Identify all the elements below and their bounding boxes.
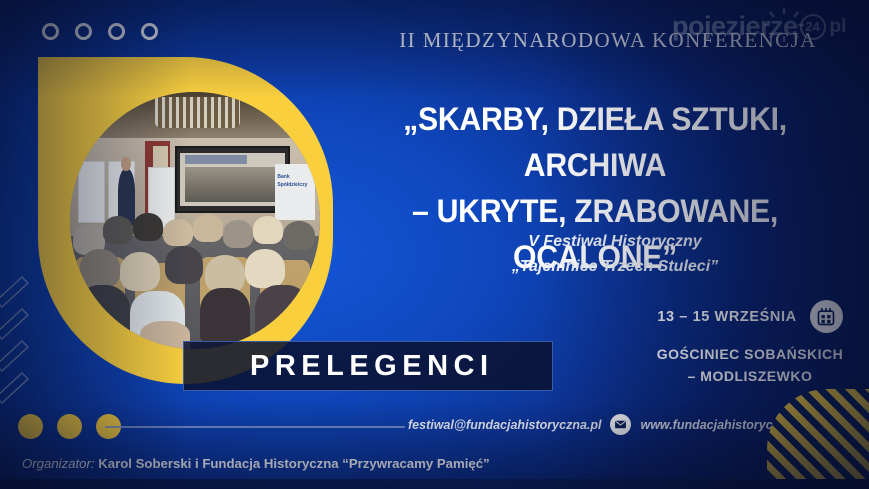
speakers-banner: PRELEGENCI <box>183 341 553 391</box>
event-venue-line-1: GOŚCINIEC SOBAŃSKICH <box>640 343 860 365</box>
ring-dots-group <box>42 23 158 40</box>
bottom-strip <box>0 479 869 489</box>
circular-photo: Bank Spółdzielczy <box>70 92 320 349</box>
calendar-icon <box>810 300 843 333</box>
conference-kicker: II MIĘDZYNARODOWA KONFERENCJA <box>398 28 818 53</box>
photo-chandelier <box>155 97 240 128</box>
ring-dot-4 <box>141 23 158 40</box>
organizer-label: Organizator: <box>22 456 95 471</box>
event-venue-line-2: – MODLISZEWKO <box>640 365 860 387</box>
event-venue: GOŚCINIEC SOBAŃSKICH – MODLISZEWKO <box>640 343 860 388</box>
conference-photo-image: Bank Spółdzielczy <box>70 92 320 349</box>
speakers-banner-label: PRELEGENCI <box>184 350 494 383</box>
photo-frame: Bank Spółdzielczy <box>38 57 333 384</box>
ring-dot-3 <box>108 23 125 40</box>
ring-dot-1 <box>42 23 59 40</box>
organizer-line: Organizator: Karol Soberski i Fundacja H… <box>22 456 490 471</box>
envelope-icon <box>610 414 631 435</box>
page-title-line-1: „SKARBY, DZIEŁA SZTUKI, ARCHIWA <box>349 96 842 188</box>
organizer-value: Karol Soberski i Fundacja Historyczna “P… <box>98 456 489 471</box>
solid-dot-2 <box>57 414 82 439</box>
watermark-tld: pl <box>830 16 847 38</box>
divider-line <box>105 426 405 428</box>
photo-sponsor-banner-text: Bank Spółdzielczy <box>277 174 315 189</box>
festival-line-1: V Festiwal Historyczny <box>450 230 780 255</box>
contact-email[interactable]: festiwal@fundacjahistoryczna.pl <box>408 418 601 432</box>
photo-slide <box>180 153 284 206</box>
striped-quarter-circle-icon <box>767 389 869 489</box>
poster-canvas: pojezierze 24 pl <box>0 0 869 489</box>
event-dates: 13 – 15 WRZEŚNIA <box>657 309 796 325</box>
photo-slide-heading <box>185 155 248 163</box>
ring-dot-2 <box>75 23 92 40</box>
festival-line-2: „Tajemnice Trzech Stuleci” <box>450 255 780 280</box>
solid-dot-1 <box>18 414 43 439</box>
event-details: 13 – 15 WRZEŚNIA GOŚCINIEC SOBAŃSKICH – … <box>640 300 860 388</box>
festival-subtitle: V Festiwal Historyczny „Tajemnice Trzech… <box>450 230 780 280</box>
event-date-row: 13 – 15 WRZEŚNIA <box>640 300 860 333</box>
photo-projection-screen <box>175 146 290 213</box>
photo-audience <box>70 210 320 349</box>
photo-slide-image <box>185 167 281 202</box>
